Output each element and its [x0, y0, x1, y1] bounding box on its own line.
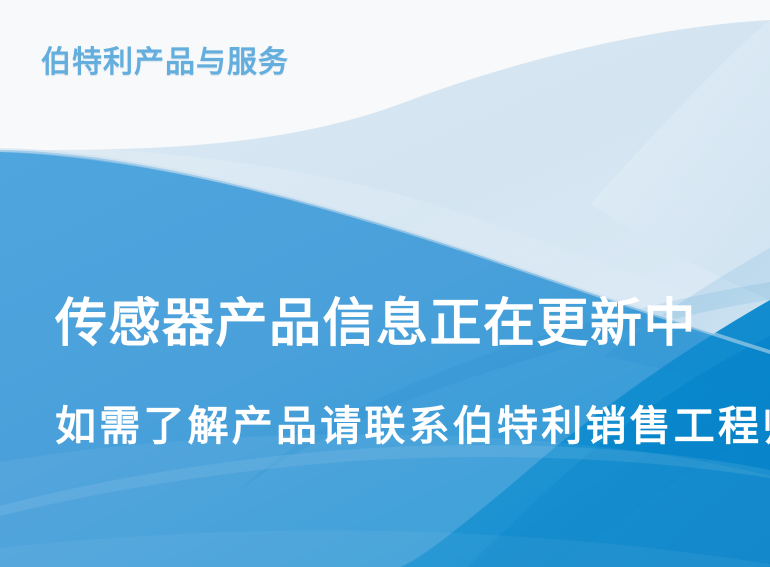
subheadline: 如需了解产品请联系伯特利销售工程师: [55, 406, 770, 447]
product-banner: 伯特利产品与服务 传感器产品信息正在更新中 如需了解产品请联系伯特利销售工程师: [0, 0, 770, 567]
text-layer: 伯特利产品与服务 传感器产品信息正在更新中 如需了解产品请联系伯特利销售工程师: [0, 0, 770, 567]
page-title: 伯特利产品与服务: [41, 48, 289, 78]
headline: 传感器产品信息正在更新中: [55, 298, 697, 350]
